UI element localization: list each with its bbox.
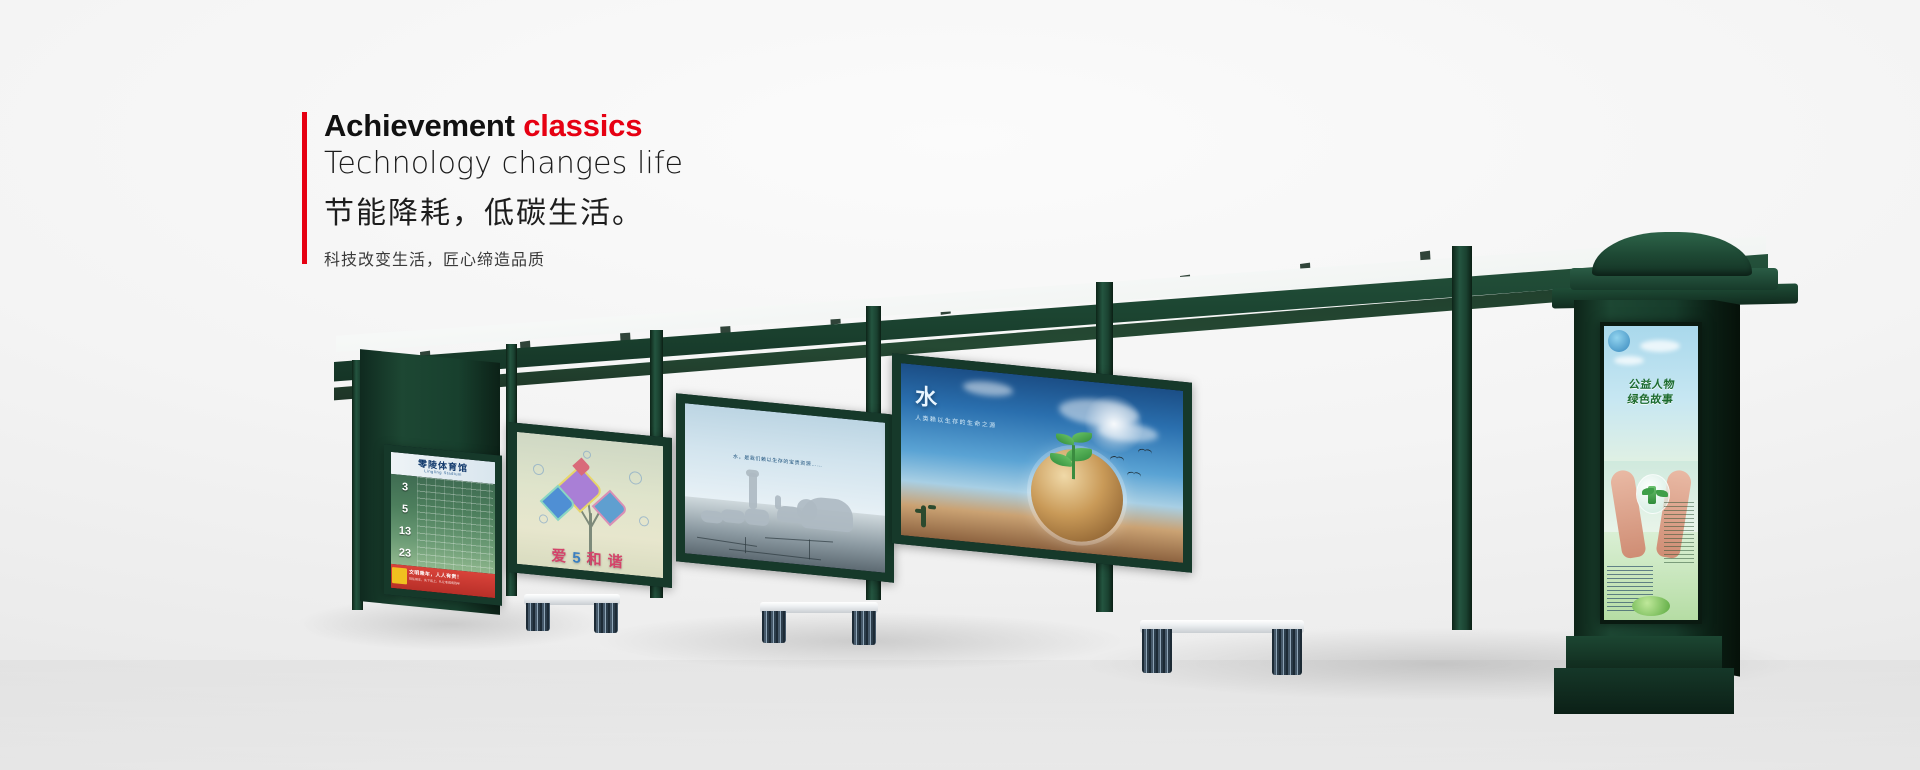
route-number: 13: [394, 524, 416, 538]
floor-gradient: [0, 660, 1920, 770]
bubble: [583, 450, 591, 459]
bubble: [639, 516, 649, 527]
route-number: 3: [394, 480, 416, 494]
camel-neck: [775, 495, 781, 510]
cactus-arm: [915, 508, 924, 513]
lightbox-water[interactable]: 水 人类赖以生存的生命之源: [892, 353, 1192, 572]
tower-side-panel: [1714, 300, 1740, 677]
cloud: [1640, 340, 1680, 352]
love-caption-right: 和谐: [587, 551, 629, 572]
dome-cap: [1592, 232, 1752, 276]
zebra: [721, 509, 745, 524]
poster-badge: [1632, 596, 1670, 616]
water-title: 水: [915, 378, 939, 412]
poster-title-line-1: 公益人物: [1608, 378, 1696, 393]
leaf: [1072, 431, 1092, 444]
cactus-arm: [928, 505, 936, 510]
love-caption-number: 5: [572, 549, 586, 567]
bench-leg: [526, 603, 550, 631]
tower-poster-screen[interactable]: 公益人物 绿色故事: [1600, 322, 1702, 624]
ground-crack: [745, 537, 746, 553]
giraffe-body: [745, 508, 769, 526]
timetable-inner: 零陵体育馆 Lingling Stadium 3 5 13 23 文明乘车，人人…: [391, 452, 495, 598]
giraffe-head: [746, 469, 759, 477]
route-number: 5: [394, 502, 416, 516]
stem: [1072, 445, 1075, 479]
brand-logo-icon: [1608, 330, 1630, 352]
leaf: [1656, 490, 1668, 497]
water-panel-inner: 水 人类赖以生存的生命之源: [901, 363, 1183, 563]
lightbox-animals[interactable]: 水，是我们赖以生存的宝贵资源……: [676, 393, 894, 582]
bus-shelter-illustration: 零陵体育馆 Lingling Stadium 3 5 13 23 文明乘车，人人…: [0, 0, 1920, 770]
poster-side-text: [1664, 502, 1694, 564]
ground-crack: [809, 539, 810, 559]
elephant-head: [797, 498, 817, 522]
animals-panel-inner: 水，是我们赖以生存的宝贵资源……: [685, 403, 885, 573]
lightbox-love-harmony[interactable]: 爱5和谐: [508, 422, 672, 588]
bench-leg: [594, 603, 618, 633]
horse: [701, 510, 723, 524]
poster-title-line-2: 绿色故事: [1606, 393, 1694, 408]
poster-title: 公益人物 绿色故事: [1606, 378, 1695, 408]
love-caption-left: 爱: [551, 547, 572, 566]
sprout: [1048, 422, 1104, 485]
footer-badge: [392, 567, 407, 584]
love-panel-inner: 爱5和谐: [517, 432, 663, 578]
cloud: [1614, 356, 1644, 365]
giraffe: [749, 472, 757, 509]
timetable-grid: [417, 476, 493, 573]
bird-icon: [1110, 456, 1124, 463]
bubble: [539, 514, 548, 524]
bench-leg: [762, 611, 786, 643]
cactus: [921, 505, 926, 527]
bird-icon: [1138, 448, 1152, 455]
support-post: [1452, 246, 1472, 630]
route-number: 23: [394, 546, 416, 560]
bird-icon: [1127, 471, 1141, 478]
lightbox-timetable[interactable]: 零陵体育馆 Lingling Stadium 3 5 13 23 文明乘车，人人…: [384, 444, 502, 606]
bubble: [533, 463, 544, 475]
bench-leg: [852, 611, 876, 645]
leaf: [1056, 433, 1074, 445]
bubble: [629, 471, 642, 485]
banner-stage: Achievement classics Technology changes …: [0, 0, 1920, 770]
timetable-body: 3 5 13 23: [391, 474, 495, 574]
